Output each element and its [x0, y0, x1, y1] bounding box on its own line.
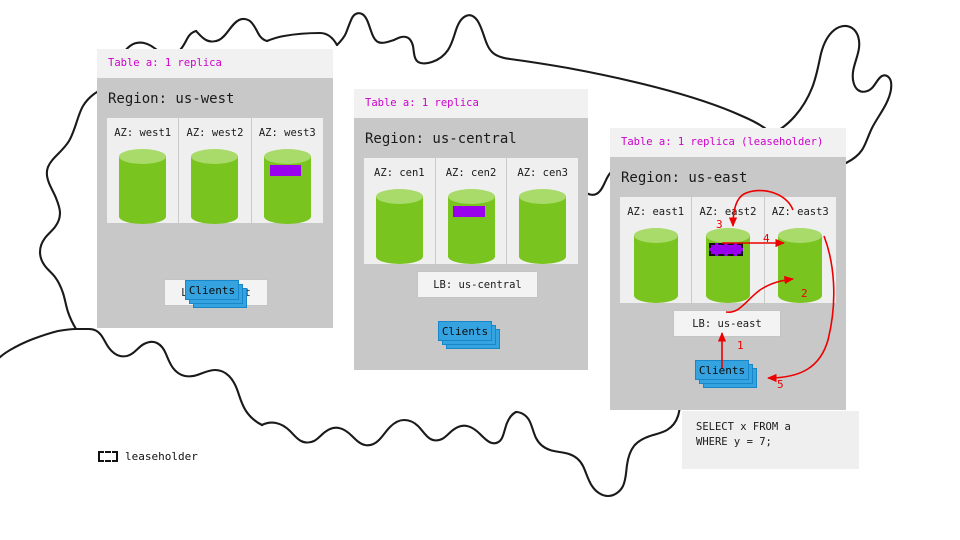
az-cell-cen1[interactable]: AZ: cen1 — [364, 158, 436, 264]
cylinder-top — [119, 149, 166, 164]
clients-us-central[interactable]: Clients — [438, 321, 500, 349]
clients-label-us-east: Clients — [695, 360, 749, 380]
region-panel-us-central: Table a: 1 replica Region: us-central AZ… — [354, 89, 588, 370]
db-node-cen3[interactable] — [519, 189, 566, 264]
region-title-us-east: Region: us-east — [610, 157, 846, 197]
replica-marker-west3[interactable] — [270, 165, 301, 176]
cylinder-body — [191, 156, 238, 217]
db-node-east1[interactable] — [634, 228, 678, 303]
sql-query-box: SELECT x FROM a WHERE y = 7; — [682, 411, 859, 469]
db-node-west3[interactable] — [264, 149, 311, 224]
cylinder-body — [519, 196, 566, 257]
load-balancer-us-east[interactable]: LB: us-east — [673, 310, 781, 337]
az-label-west2: AZ: west2 — [179, 127, 250, 139]
az-row-us-west: AZ: west1 AZ: west2 — [107, 118, 323, 223]
region-header-us-central: Table a: 1 replica — [354, 89, 588, 118]
cylinder-top — [448, 189, 495, 204]
cylinder-top — [519, 189, 566, 204]
cylinder-body — [119, 156, 166, 217]
region-panel-us-east: Table a: 1 replica (leaseholder) Region:… — [610, 128, 846, 410]
az-label-cen3: AZ: cen3 — [507, 167, 578, 179]
az-cell-cen3[interactable]: AZ: cen3 — [507, 158, 578, 264]
db-node-cen2[interactable] — [448, 189, 495, 264]
az-row-us-central: AZ: cen1 AZ: cen2 — [364, 158, 578, 264]
load-balancer-us-central[interactable]: LB: us-central — [417, 271, 538, 298]
dashed-rect-icon — [98, 451, 118, 462]
flow-step-number-4: 4 — [763, 232, 770, 245]
az-label-cen1: AZ: cen1 — [364, 167, 435, 179]
az-cell-cen2[interactable]: AZ: cen2 — [436, 158, 508, 264]
az-cell-west3[interactable]: AZ: west3 — [252, 118, 323, 223]
az-cell-west2[interactable]: AZ: west2 — [179, 118, 251, 223]
legend-label: leaseholder — [125, 450, 198, 463]
region-panel-us-west: Table a: 1 replica Region: us-west AZ: w… — [97, 49, 333, 328]
diagram-canvas: Table a: 1 replica Region: us-west AZ: w… — [0, 0, 960, 540]
cylinder-top — [634, 228, 678, 243]
cylinder-top — [191, 149, 238, 164]
flow-step-number-3: 3 — [716, 218, 723, 231]
db-node-west2[interactable] — [191, 149, 238, 224]
cylinder-body — [376, 196, 423, 257]
clients-us-west[interactable]: Clients — [185, 280, 247, 308]
region-header-us-east: Table a: 1 replica (leaseholder) — [610, 128, 846, 157]
legend: leaseholder — [98, 450, 198, 463]
cylinder-top — [264, 149, 311, 164]
region-header-us-west: Table a: 1 replica — [97, 49, 333, 78]
flow-step-number-5: 5 — [777, 378, 784, 391]
az-cell-west1[interactable]: AZ: west1 — [107, 118, 179, 223]
flow-step-number-1: 1 — [737, 339, 744, 352]
az-label-east3: AZ: east3 — [765, 206, 836, 218]
db-node-east2[interactable] — [706, 228, 750, 303]
flow-step-number-2: 2 — [801, 287, 808, 300]
cylinder-top — [778, 228, 822, 243]
clients-us-east[interactable]: Clients — [695, 360, 757, 388]
region-title-us-central: Region: us-central — [354, 118, 588, 158]
db-node-cen1[interactable] — [376, 189, 423, 264]
replica-marker-cen2[interactable] — [453, 206, 485, 217]
az-label-cen2: AZ: cen2 — [436, 167, 507, 179]
cylinder-top — [706, 228, 750, 243]
cylinder-top — [376, 189, 423, 204]
az-cell-east1[interactable]: AZ: east1 — [620, 197, 692, 303]
clients-label-us-west: Clients — [185, 280, 239, 300]
az-label-west1: AZ: west1 — [107, 127, 178, 139]
leaseholder-replica-east2[interactable] — [709, 243, 743, 256]
az-label-east2: AZ: east2 — [692, 206, 763, 218]
az-label-east1: AZ: east1 — [620, 206, 691, 218]
db-node-west1[interactable] — [119, 149, 166, 224]
region-title-us-west: Region: us-west — [97, 78, 333, 118]
az-label-west3: AZ: west3 — [252, 127, 323, 139]
clients-label-us-central: Clients — [438, 321, 492, 341]
cylinder-body — [634, 235, 678, 296]
az-cell-east2[interactable]: AZ: east2 — [692, 197, 764, 303]
